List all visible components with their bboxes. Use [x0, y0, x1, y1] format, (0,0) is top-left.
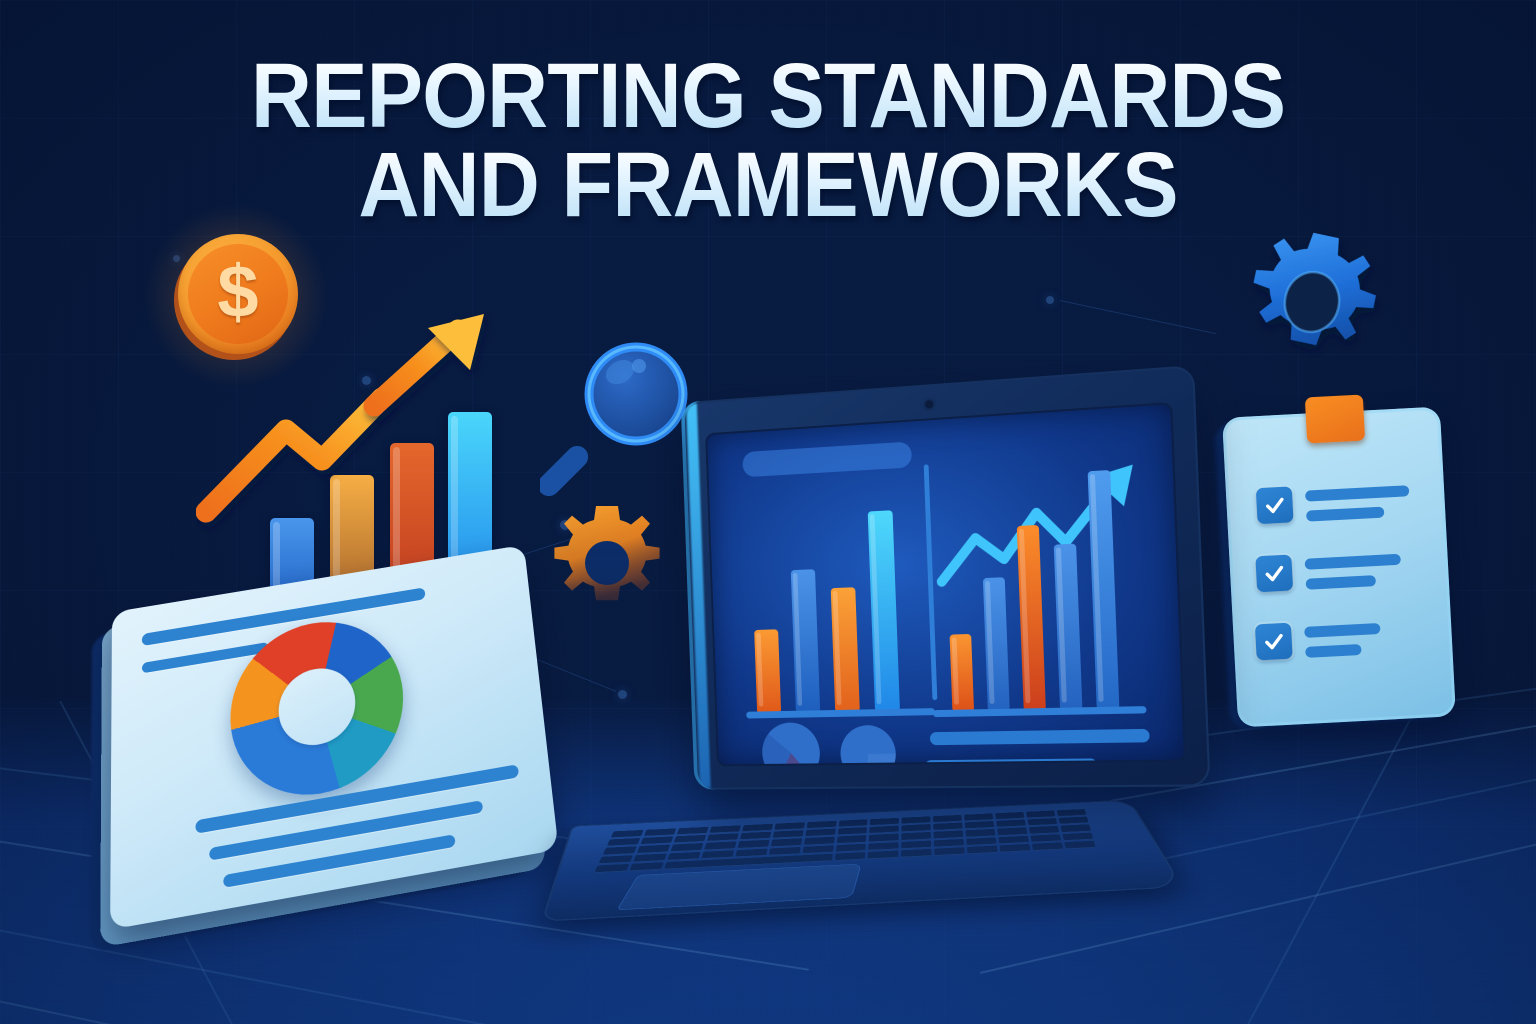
title-line-1: REPORTING STANDARDS: [61, 52, 1474, 141]
checklist-item-text: [1305, 480, 1411, 521]
checklist-line: [1306, 575, 1376, 590]
donut-hole: [277, 663, 357, 751]
webcam-icon: [925, 400, 933, 409]
document-body-line-2: [209, 800, 483, 861]
checklist-line: [1305, 644, 1361, 658]
screen-left-bar-chart: [743, 509, 929, 712]
checklist-line: [1306, 507, 1384, 522]
screen-pie-chart-left: [761, 722, 821, 766]
checklist-line: [1305, 485, 1409, 501]
checklist-line: [1304, 623, 1380, 638]
screen-pie-chart-right: [840, 725, 897, 767]
laptop-screen[interactable]: [705, 402, 1186, 766]
screen-right-bar-chart: [922, 448, 1151, 711]
screen-left-bar-4: [868, 510, 900, 709]
screen-text-line-2: [925, 758, 1097, 766]
coin-inner-disc: $: [188, 244, 288, 344]
checklist-item-1[interactable]: [1256, 480, 1411, 524]
screen-header-pill: [742, 441, 912, 477]
laptop-device: [548, 384, 1278, 904]
checklist-line: [1305, 554, 1401, 570]
dollar-sign-glyph: $: [217, 255, 258, 329]
screen-left-bar-1: [754, 629, 781, 711]
hero-banner: REPORTING STANDARDS AND FRAMEWORKS $: [0, 0, 1536, 1024]
title-line-2: AND FRAMEWORKS: [61, 141, 1474, 230]
laptop-trackpad[interactable]: [616, 864, 861, 911]
document-donut-chart: [228, 609, 409, 808]
checklist-item-text: [1304, 549, 1402, 590]
laptop-keyboard-base: [541, 799, 1183, 921]
dollar-coin-icon: $: [172, 232, 300, 360]
gear-icon-blue: [1238, 228, 1386, 376]
report-document: [86, 566, 556, 926]
checklist-item-text: [1304, 618, 1382, 658]
laptop-keyboard[interactable]: [594, 809, 1095, 873]
screen-right-bar-1: [950, 634, 974, 710]
laptop-lid: [684, 365, 1210, 790]
screen-left-bar-3: [831, 587, 860, 710]
clipboard-clip: [1305, 395, 1365, 444]
screen-text-line-1: [930, 729, 1150, 745]
page-title: REPORTING STANDARDS AND FRAMEWORKS: [0, 52, 1536, 230]
screen-left-bar-2: [791, 569, 820, 711]
